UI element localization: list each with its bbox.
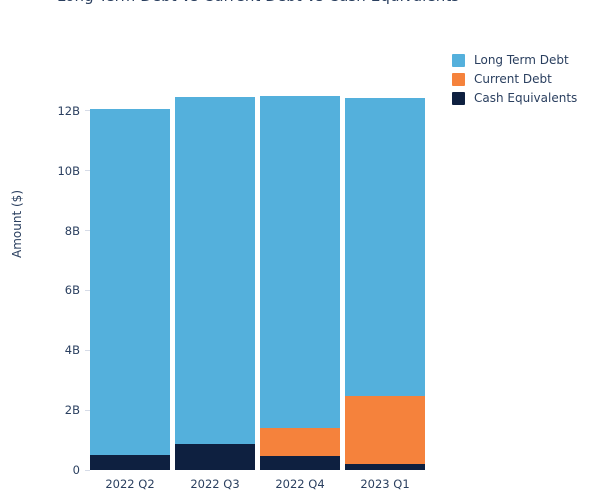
y-axis-tick-label: 10B: [57, 164, 85, 178]
x-axis-tick-label: 2023 Q1: [330, 470, 440, 491]
bar-group[interactable]: 2022 Q4: [260, 96, 340, 470]
bar-segment-long[interactable]: [260, 96, 340, 428]
bar-segment-curr[interactable]: [260, 428, 340, 456]
y-axis-tick: 4B: [65, 343, 90, 357]
legend-item[interactable]: Long Term Debt: [452, 52, 577, 68]
legend-item[interactable]: Current Debt: [452, 71, 577, 87]
legend-swatch-icon: [452, 54, 465, 67]
bar-group[interactable]: 2023 Q1: [345, 98, 425, 470]
stacked-bar-chart: Long Term Debt vs Current Debt vs Cash E…: [0, 0, 600, 500]
bar-segment-long[interactable]: [175, 97, 255, 444]
y-axis-tick: 10B: [57, 164, 90, 178]
y-axis-tick-label: 4B: [65, 343, 85, 357]
y-axis-tick-label: 12B: [57, 104, 85, 118]
y-axis-tick: 12B: [57, 104, 90, 118]
bar-segment-long[interactable]: [345, 98, 425, 396]
bar-segment-cash[interactable]: [90, 455, 170, 470]
legend-item[interactable]: Cash Equivalents: [452, 90, 577, 106]
bar-group[interactable]: 2022 Q3: [175, 97, 255, 470]
chart-title: Long Term Debt vs Current Debt vs Cash E…: [57, 0, 459, 5]
plot-area: 02B4B6B8B10B12B2022 Q22022 Q32022 Q42023…: [90, 81, 430, 470]
bar-segment-cash[interactable]: [260, 456, 340, 470]
y-axis-tick-label: 2B: [65, 403, 85, 417]
y-axis-tick: 8B: [65, 224, 90, 238]
y-axis-tick-label: 8B: [65, 224, 85, 238]
bar-segment-long[interactable]: [90, 109, 170, 456]
legend-swatch-icon: [452, 73, 465, 86]
chart-legend[interactable]: Long Term DebtCurrent DebtCash Equivalen…: [452, 52, 577, 106]
legend-item-label: Current Debt: [474, 72, 552, 86]
y-axis-tick: 6B: [65, 283, 90, 297]
bar-segment-cash[interactable]: [175, 444, 255, 470]
y-axis-tick-label: 6B: [65, 283, 85, 297]
y-axis-tick: 2B: [65, 403, 90, 417]
bar-group[interactable]: 2022 Q2: [90, 109, 170, 470]
y-axis-title: Amount ($): [10, 190, 28, 258]
bar-segment-curr[interactable]: [345, 396, 425, 464]
legend-item-label: Cash Equivalents: [474, 91, 577, 105]
legend-item-label: Long Term Debt: [474, 53, 569, 67]
legend-swatch-icon: [452, 92, 465, 105]
